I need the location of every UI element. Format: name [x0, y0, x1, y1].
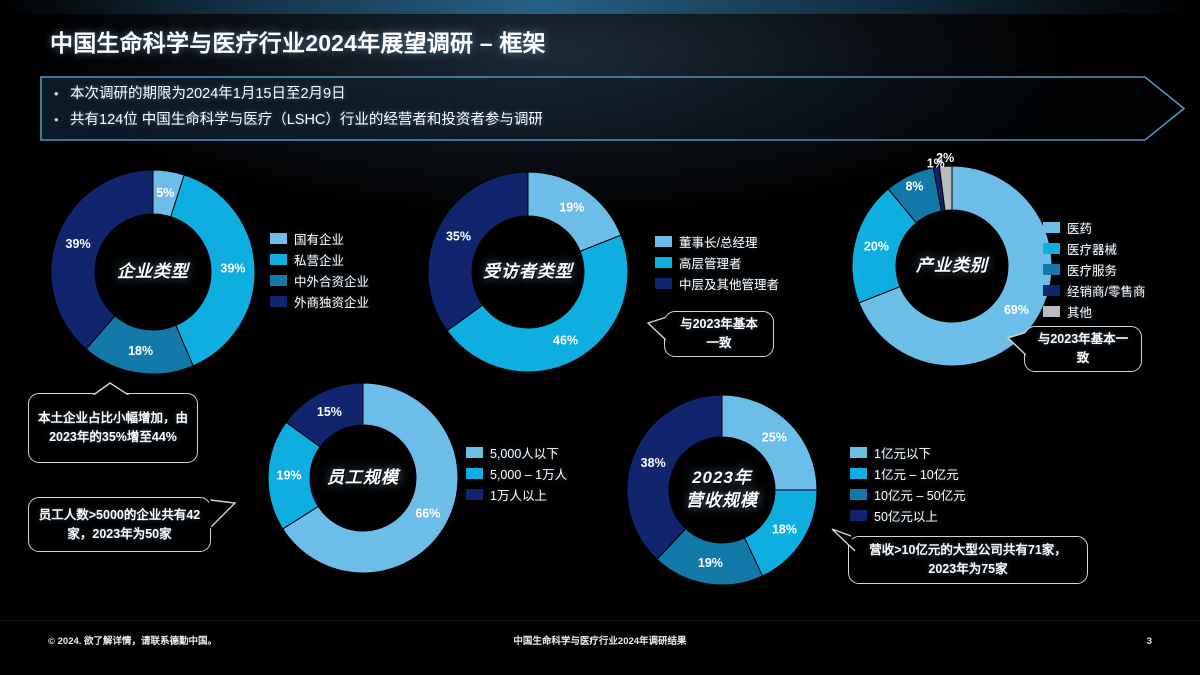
legend-item[interactable]: 医疗器械: [1043, 239, 1145, 258]
donut-slice[interactable]: [627, 395, 722, 559]
legend-label: 中外合资企业: [294, 271, 369, 290]
donut-chart-revenue-scale: 25%18%19%38%2023年营收规模: [587, 355, 857, 625]
legend-swatch-icon: [655, 278, 672, 289]
legend-label: 5,000人以下: [490, 443, 559, 462]
slice-value-label: 18%: [128, 344, 153, 358]
banner-bullets: • 本次调研的期限为2024年1月15日至2月9日 • 共有124位 中国生命科…: [54, 83, 543, 135]
slice-value-label: 2%: [936, 151, 954, 165]
slice-value-label: 25%: [762, 431, 787, 445]
legend-label: 医疗器械: [1067, 239, 1117, 258]
bullet-item: • 共有124位 中国生命科学与医疗（LSHC）行业的经营者和投资者参与调研: [54, 109, 543, 131]
legend-swatch-icon: [850, 468, 867, 479]
legend-item[interactable]: 5,000 – 1万人: [466, 464, 567, 483]
footer-divider: [0, 620, 1200, 621]
slice-value-label: 35%: [446, 230, 471, 244]
legend-swatch-icon: [655, 257, 672, 268]
slice-value-label: 19%: [277, 469, 302, 483]
callout-text: 营收>10亿元的大型公司共有71家，2023年为75家: [858, 541, 1078, 579]
bullet-marker-icon: •: [54, 83, 70, 105]
slice-value-label: 8%: [905, 179, 923, 193]
footer-page-number: 3: [1147, 636, 1152, 647]
callout-large-company: 营收>10亿元的大型公司共有71家，2023年为75家: [848, 536, 1088, 584]
legend-label: 国有企业: [294, 229, 344, 248]
legend-label: 其他: [1067, 302, 1092, 321]
slide: 中国生命科学与医疗行业2024年展望调研 – 框架 • 本次调研的期限为2024…: [0, 0, 1200, 675]
callout-respondent-same-tail-icon: [646, 315, 668, 345]
callout-text: 与2023年基本一致: [1034, 330, 1132, 368]
legend-employee-scale: 5,000人以下5,000 – 1万人1万人以上: [466, 443, 567, 506]
donut-slice[interactable]: [428, 172, 528, 331]
legend-swatch-icon: [850, 447, 867, 458]
callout-large-company-tail-icon: [830, 527, 856, 555]
slice-value-label: 19%: [698, 556, 723, 570]
legend-swatch-icon: [1043, 285, 1060, 296]
legend-item[interactable]: 1万人以上: [466, 485, 567, 504]
legend-item[interactable]: 10亿元 – 50亿元: [850, 485, 966, 504]
legend-swatch-icon: [466, 447, 483, 458]
legend-company-type: 国有企业私营企业中外合资企业外商独资企业: [270, 229, 369, 313]
legend-label: 医药: [1067, 218, 1092, 237]
callout-text: 与2023年基本一致: [674, 315, 764, 353]
slice-value-label: 5%: [156, 186, 174, 200]
legend-item[interactable]: 50亿元以上: [850, 506, 966, 525]
callout-industry-same-tail-icon: [1006, 330, 1028, 360]
callout-text: 本土企业占比小幅增加，由2023年的35%增至44%: [38, 409, 188, 447]
legend-label: 私营企业: [294, 250, 344, 269]
slice-value-label: 19%: [559, 200, 584, 214]
donut-rings: 66%19%15%: [228, 343, 498, 613]
legend-item[interactable]: 1亿元以下: [850, 443, 966, 462]
legend-item[interactable]: 中层及其他管理者: [655, 274, 779, 293]
legend-swatch-icon: [270, 296, 287, 307]
legend-item[interactable]: 高层管理者: [655, 253, 779, 272]
donut-slice[interactable]: [51, 170, 153, 349]
legend-label: 医疗服务: [1067, 260, 1117, 279]
legend-swatch-icon: [466, 468, 483, 479]
bullet-marker-icon: •: [54, 109, 70, 131]
slice-value-label: 46%: [553, 333, 578, 347]
legend-respondent-type: 董事长/总经理高层管理者中层及其他管理者: [655, 232, 779, 295]
page-title: 中国生命科学与医疗行业2024年展望调研 – 框架: [50, 24, 546, 58]
slice-value-label: 38%: [641, 456, 666, 470]
legend-item[interactable]: 私营企业: [270, 250, 369, 269]
legend-label: 5,000 – 1万人: [490, 464, 567, 483]
callout-local-share: 本土企业占比小幅增加，由2023年的35%增至44%: [28, 393, 198, 463]
legend-item[interactable]: 5,000人以下: [466, 443, 567, 462]
legend-swatch-icon: [466, 489, 483, 500]
callout-local-share-tail-icon: [90, 381, 136, 397]
bullet-text: 本次调研的期限为2024年1月15日至2月9日: [70, 83, 346, 105]
top-glow-bar: [0, 0, 1200, 14]
legend-swatch-icon: [1043, 264, 1060, 275]
legend-revenue-scale: 1亿元以下1亿元 – 10亿元10亿元 – 50亿元50亿元以上: [850, 443, 966, 527]
legend-swatch-icon: [1043, 222, 1060, 233]
legend-swatch-icon: [850, 489, 867, 500]
legend-label: 经销商/零售商: [1067, 281, 1145, 300]
slice-value-label: 39%: [220, 261, 245, 275]
bullet-item: • 本次调研的期限为2024年1月15日至2月9日: [54, 83, 543, 105]
legend-label: 1万人以上: [490, 485, 547, 504]
legend-item[interactable]: 1亿元 – 10亿元: [850, 464, 966, 483]
legend-swatch-icon: [655, 236, 672, 247]
legend-swatch-icon: [270, 254, 287, 265]
legend-item[interactable]: 董事长/总经理: [655, 232, 779, 251]
legend-swatch-icon: [1043, 306, 1060, 317]
legend-swatch-icon: [1043, 243, 1060, 254]
donut-chart-employee-scale: 66%19%15%员工规模: [228, 343, 498, 613]
legend-label: 外商独资企业: [294, 292, 369, 311]
callout-text: 员工人数>5000的企业共有42家，2023年为50家: [38, 506, 201, 544]
callout-employee-count-tail-icon: [209, 498, 237, 532]
legend-item[interactable]: 其他: [1043, 302, 1145, 321]
legend-item[interactable]: 外商独资企业: [270, 292, 369, 311]
slice-value-label: 66%: [415, 507, 440, 521]
legend-label: 高层管理者: [679, 253, 742, 272]
legend-label: 董事长/总经理: [679, 232, 757, 251]
slice-value-label: 20%: [864, 240, 889, 254]
legend-industry-category: 医药医疗器械医疗服务经销商/零售商其他: [1043, 218, 1145, 323]
legend-item[interactable]: 医疗服务: [1043, 260, 1145, 279]
callout-industry-same: 与2023年基本一致: [1024, 326, 1142, 372]
slice-value-label: 15%: [317, 405, 342, 419]
legend-swatch-icon: [270, 275, 287, 286]
legend-label: 1亿元 – 10亿元: [874, 464, 959, 483]
slice-value-label: 39%: [66, 237, 91, 251]
donut-rings: 25%18%19%38%: [587, 355, 857, 625]
legend-swatch-icon: [270, 233, 287, 244]
legend-item[interactable]: 医药: [1043, 218, 1145, 237]
legend-swatch-icon: [850, 510, 867, 521]
callout-respondent-same: 与2023年基本一致: [664, 311, 774, 357]
footer-subtitle: 中国生命科学与医疗行业2024年调研结果: [0, 633, 1200, 647]
legend-item[interactable]: 中外合资企业: [270, 271, 369, 290]
bullet-text: 共有124位 中国生命科学与医疗（LSHC）行业的经营者和投资者参与调研: [70, 109, 543, 131]
legend-label: 1亿元以下: [874, 443, 931, 462]
legend-label: 中层及其他管理者: [679, 274, 779, 293]
slice-value-label: 18%: [772, 523, 797, 537]
legend-label: 10亿元 – 50亿元: [874, 485, 966, 504]
legend-item[interactable]: 国有企业: [270, 229, 369, 248]
callout-employee-count: 员工人数>5000的企业共有42家，2023年为50家: [28, 497, 211, 552]
slice-value-label: 69%: [1004, 303, 1029, 317]
legend-item[interactable]: 经销商/零售商: [1043, 281, 1145, 300]
legend-label: 50亿元以上: [874, 506, 938, 525]
